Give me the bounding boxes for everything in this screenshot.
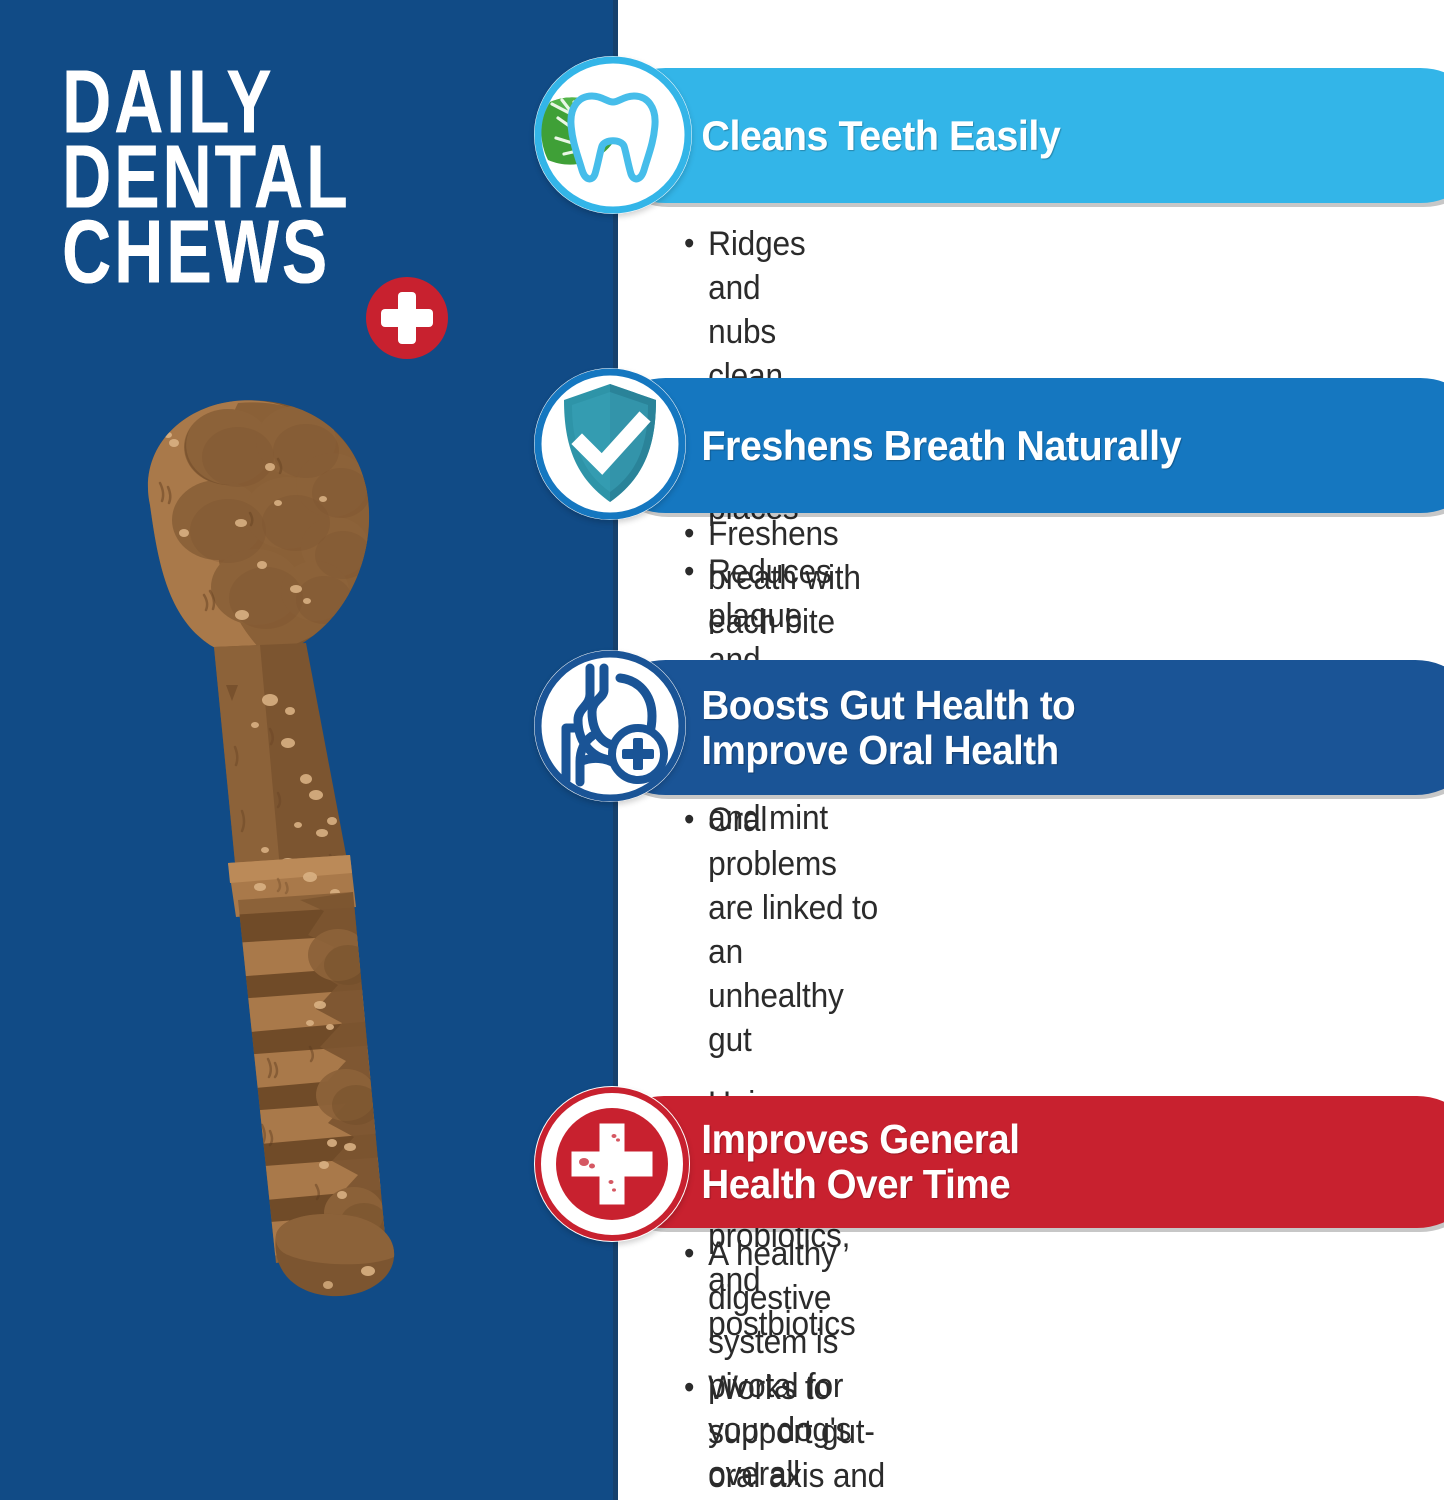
list-item: Oral problems are linked to an unhealthy… — [684, 798, 885, 1062]
tooth-with-mint-leaf-icon — [534, 56, 692, 214]
plus-circle-badge — [612, 728, 664, 780]
product-title: DAILY DENTAL CHEWS — [62, 58, 482, 283]
infographic-page: DAILY DENTAL CHEWS — [0, 0, 1444, 1500]
cross-horizontal-bar — [381, 309, 433, 327]
stomach-plus-icon — [534, 650, 686, 802]
medical-cross-icon — [366, 277, 448, 359]
shield-check-icon — [534, 368, 686, 520]
list-item: A healthy digestive system is pivotal fo… — [684, 1232, 856, 1500]
feature-banner-3: Boosts Gut Health to Improve Oral Health — [598, 660, 1444, 795]
feature-banner-2: Freshens Breath Naturally — [598, 378, 1444, 513]
chew-head — [148, 400, 371, 673]
chew-shaft — [214, 643, 348, 873]
feature-banner-4: Improves General Health Over Time — [598, 1096, 1444, 1228]
chew-ridged-body — [230, 892, 394, 1296]
chew-svg — [110, 395, 510, 1395]
feature-bullets-4: A healthy digestive system is pivotal fo… — [684, 1232, 868, 1500]
list-item: Freshens breath with each bite — [684, 512, 866, 644]
feature-title-2: Freshens Breath Naturally — [598, 423, 1207, 469]
dog-dental-chew-illustration — [110, 395, 510, 1395]
feature-banner-1: Cleans Teeth Easily — [598, 68, 1444, 203]
medical-cross-badge-icon — [534, 1086, 690, 1242]
